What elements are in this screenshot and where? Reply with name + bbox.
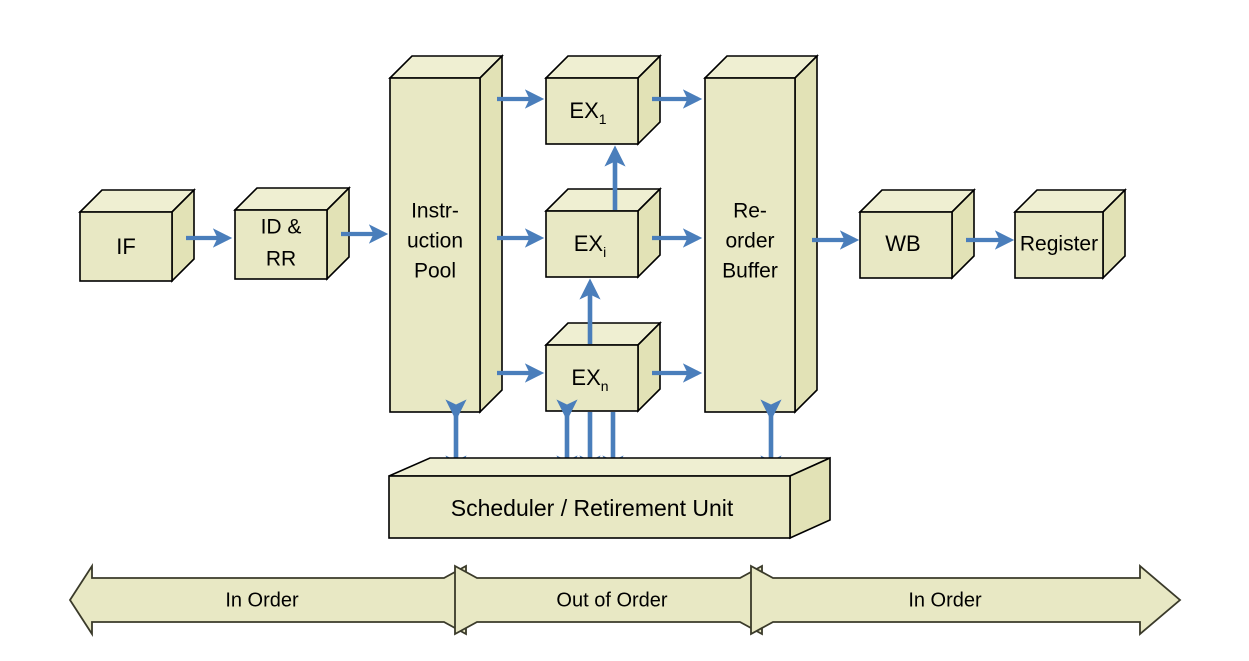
box-exi-label: EXi [574, 231, 606, 260]
box-scheduler: Scheduler / Retirement Unit [389, 458, 830, 538]
banner-in-order-left-label: In Order [225, 589, 299, 611]
banner-out-of-order: Out of Order [455, 566, 762, 634]
box-wb: WB [860, 190, 974, 278]
box-scheduler-top [389, 458, 830, 476]
box-reorder-buffer-side [795, 56, 817, 412]
box-instruction-pool-label-line2: uction [407, 230, 463, 253]
banner-out-of-order-label: Out of Order [556, 589, 667, 611]
box-exn: EXn [546, 323, 660, 411]
banner-in-order-left: In Order [70, 566, 466, 634]
box-instruction-pool-label-line1: Instr- [411, 200, 459, 223]
box-reorder-buffer-label-line3: Buffer [722, 260, 778, 283]
box-reorder-buffer: Re- order Buffer [705, 56, 817, 412]
banner-in-order-right-label: In Order [908, 589, 982, 611]
box-instruction-pool-label-line3: Pool [414, 260, 456, 283]
diagram-canvas: IF ID & RR Instr- uction Pool EX1 EXi [0, 0, 1249, 661]
box-reorder-buffer-label-line1: Re- [733, 200, 767, 223]
box-register: Register [1015, 190, 1125, 278]
box-reorder-buffer-label-line2: order [725, 230, 774, 253]
box-wb-label: WB [885, 231, 920, 256]
box-if: IF [80, 190, 194, 281]
box-instruction-pool-side [480, 56, 502, 412]
box-id-rr: ID & RR [235, 188, 349, 279]
box-register-label: Register [1020, 233, 1098, 256]
box-id-rr-label-line1: ID & [261, 216, 302, 239]
box-exi: EXi [546, 189, 660, 277]
box-if-label: IF [116, 234, 136, 259]
banner-in-order-right: In Order [751, 566, 1180, 634]
box-id-rr-label-line2: RR [266, 248, 296, 271]
box-scheduler-label: Scheduler / Retirement Unit [451, 495, 734, 521]
box-instruction-pool: Instr- uction Pool [390, 56, 502, 412]
box-ex1: EX1 [546, 56, 660, 144]
pipeline-diagram-svg: IF ID & RR Instr- uction Pool EX1 EXi [0, 0, 1249, 661]
